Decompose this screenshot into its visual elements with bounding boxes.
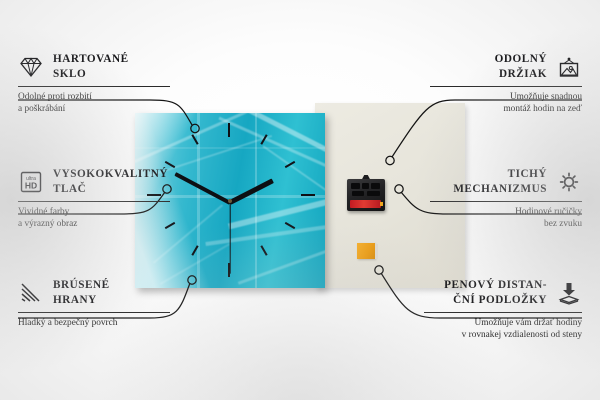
ultra-hd-icon: ultra HD — [18, 170, 44, 194]
feature-subtitle-line1: Odolné proti rozbití — [18, 91, 170, 103]
feature-silent-mechanism: TICHÝ MECHANIZMUS Hodinové ručičky bez z… — [430, 167, 582, 230]
feature-subtitle-line2: bez zvuku — [430, 218, 582, 230]
feature-ground-edges: BRÚSENÉ HRANY Hladký a bezpečný povrch — [18, 278, 170, 329]
feature-high-quality-print: ultra HD VYSOKOKVALITNÝ TLAČ Vividné far… — [18, 167, 170, 230]
feature-title-line2: SKLO — [53, 67, 129, 82]
clock-hour-hand — [229, 178, 274, 204]
feature-subtitle-line1: Umožňuje snadnou — [430, 91, 582, 103]
feature-subtitle-line1: Hodinové ručičky — [430, 206, 582, 218]
mechanism-body — [347, 179, 385, 211]
feature-subtitle-line2: montáž hodin na zeď — [430, 103, 582, 115]
press-down-icon — [556, 281, 582, 305]
feature-header: PENOVÝ DISTAN- ČNÍ PODLOŽKY — [424, 278, 582, 307]
feature-title-line1: ODOLNÝ — [495, 52, 547, 67]
feature-subtitle-line2: v rovnakej vzdialenosti od steny — [424, 329, 582, 341]
svg-text:HD: HD — [25, 180, 37, 190]
divider — [430, 201, 582, 202]
gear-icon — [556, 170, 582, 194]
foam-spacer-pad — [357, 243, 375, 259]
divider — [430, 86, 582, 87]
feature-subtitle-line1: Umožňuje vám držať hodiny — [424, 317, 582, 329]
mechanism-battery — [350, 200, 381, 208]
diamond-icon — [18, 55, 44, 79]
clock-mechanism — [347, 175, 385, 211]
divider — [18, 312, 170, 313]
feature-subtitle-line2: a poškrábání — [18, 103, 170, 115]
clock-pivot — [228, 199, 232, 203]
feature-title-line2: MECHANIZMUS — [453, 182, 547, 197]
feature-title-line2: ČNÍ PODLOŽKY — [444, 293, 547, 308]
feature-subtitle-line2: a výrazný obraz — [18, 218, 170, 230]
feature-title-line2: DRŽIAK — [495, 67, 547, 82]
feature-tempered-glass: HARTOVANÉ SKLO Odolné proti rozbití a po… — [18, 52, 170, 115]
feature-header: HARTOVANÉ SKLO — [18, 52, 170, 81]
product-photo — [135, 103, 465, 295]
feature-title-line1: TICHÝ — [453, 167, 547, 182]
picture-hanger-icon — [556, 55, 582, 79]
feature-subtitle-line1: Vividné farby — [18, 206, 170, 218]
clock-second-hand — [229, 202, 230, 274]
feature-durable-holder: ODOLNÝ DRŽIAK Umožňuje snadnou montáž ho… — [430, 52, 582, 115]
divider — [18, 86, 170, 87]
feature-foam-spacers: PENOVÝ DISTAN- ČNÍ PODLOŽKY Umožňuje vám… — [424, 278, 582, 341]
divider — [18, 201, 170, 202]
feature-title-line1: BRÚSENÉ — [53, 278, 110, 293]
feature-subtitle-line1: Hladký a bezpečný povrch — [18, 317, 170, 329]
clock-minute-hand — [174, 172, 231, 205]
feature-header: ultra HD VYSOKOKVALITNÝ TLAČ — [18, 167, 170, 196]
feature-header: BRÚSENÉ HRANY — [18, 278, 170, 307]
feature-header: ODOLNÝ DRŽIAK — [430, 52, 582, 81]
feature-title-line2: HRANY — [53, 293, 110, 308]
ground-edges-icon — [18, 281, 44, 305]
feature-title-line2: TLAČ — [53, 182, 168, 197]
feature-title-line1: HARTOVANÉ — [53, 52, 129, 67]
divider — [424, 312, 582, 313]
infographic-canvas: HARTOVANÉ SKLO Odolné proti rozbití a po… — [0, 0, 600, 400]
feature-header: TICHÝ MECHANIZMUS — [430, 167, 582, 196]
feature-title-line1: VYSOKOKVALITNÝ — [53, 167, 168, 182]
feature-title-line1: PENOVÝ DISTAN- — [444, 278, 547, 293]
